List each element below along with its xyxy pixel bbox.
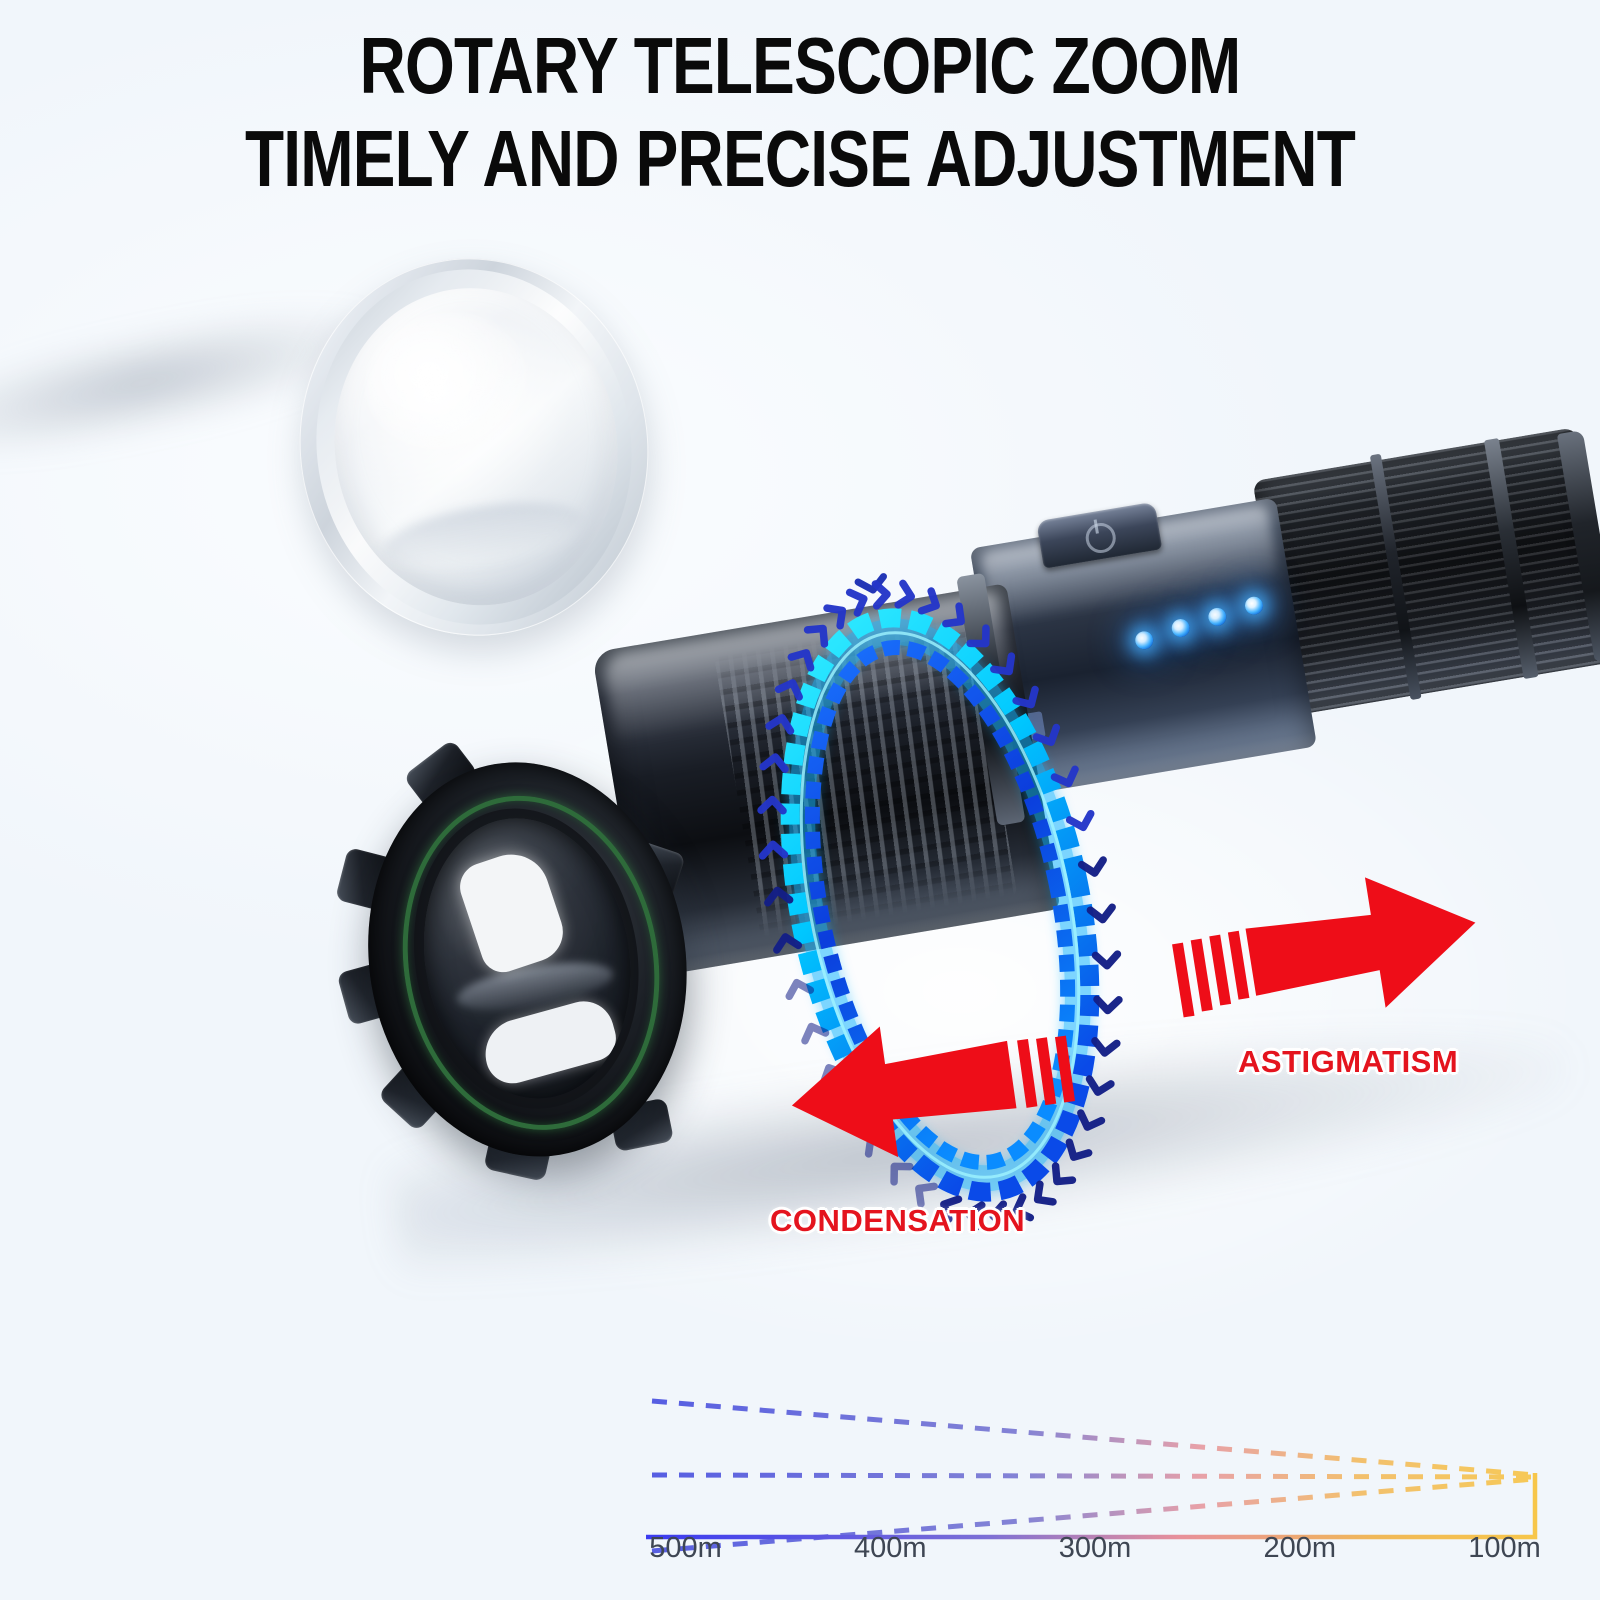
scale-tick-200m: 200m (1263, 1532, 1336, 1565)
led-indicator-2 (1170, 618, 1191, 639)
ray-center (652, 1475, 1535, 1477)
condensation-arrow-left (780, 990, 1080, 1175)
product-infographic: ROTARY TELESCOPIC ZOOM TIMELY AND PRECIS… (0, 0, 1600, 1600)
astigmatism-arrow-right (1130, 875, 1490, 1055)
headline-line-2: TIMELY AND PRECISE ADJUSTMENT (160, 121, 1440, 198)
arrow-left-tail-stripes (1017, 1034, 1075, 1108)
beam-distance-chart (640, 1355, 1550, 1555)
headline-block: ROTARY TELESCOPIC ZOOM TIMELY AND PRECIS… (0, 28, 1600, 198)
led-indicator-1 (1134, 630, 1155, 651)
distance-scale-labels: 500m 400m 300m 200m 100m (640, 1532, 1550, 1576)
arrow-right-shape (1241, 875, 1487, 1027)
lens-top-reflection (454, 845, 571, 979)
headline-line-1: ROTARY TELESCOPIC ZOOM (160, 28, 1440, 105)
scale-tick-100m: 100m (1468, 1532, 1541, 1565)
callout-astigmatism: ASTIGMATISM (1238, 1044, 1458, 1080)
arrow-right-tail-stripes (1172, 931, 1251, 1018)
ray-upper (652, 1401, 1535, 1475)
callout-condensation: CONDENSATION (770, 1203, 1025, 1239)
scale-tick-400m: 400m (854, 1532, 927, 1565)
led-indicator-4 (1244, 595, 1265, 616)
chart-axis (646, 1473, 1535, 1537)
led-indicator-3 (1207, 606, 1228, 627)
arrow-left-shape (783, 1009, 1021, 1171)
chart-rays (652, 1401, 1535, 1551)
scale-tick-500m: 500m (649, 1532, 722, 1565)
scale-tick-300m: 300m (1059, 1532, 1132, 1565)
